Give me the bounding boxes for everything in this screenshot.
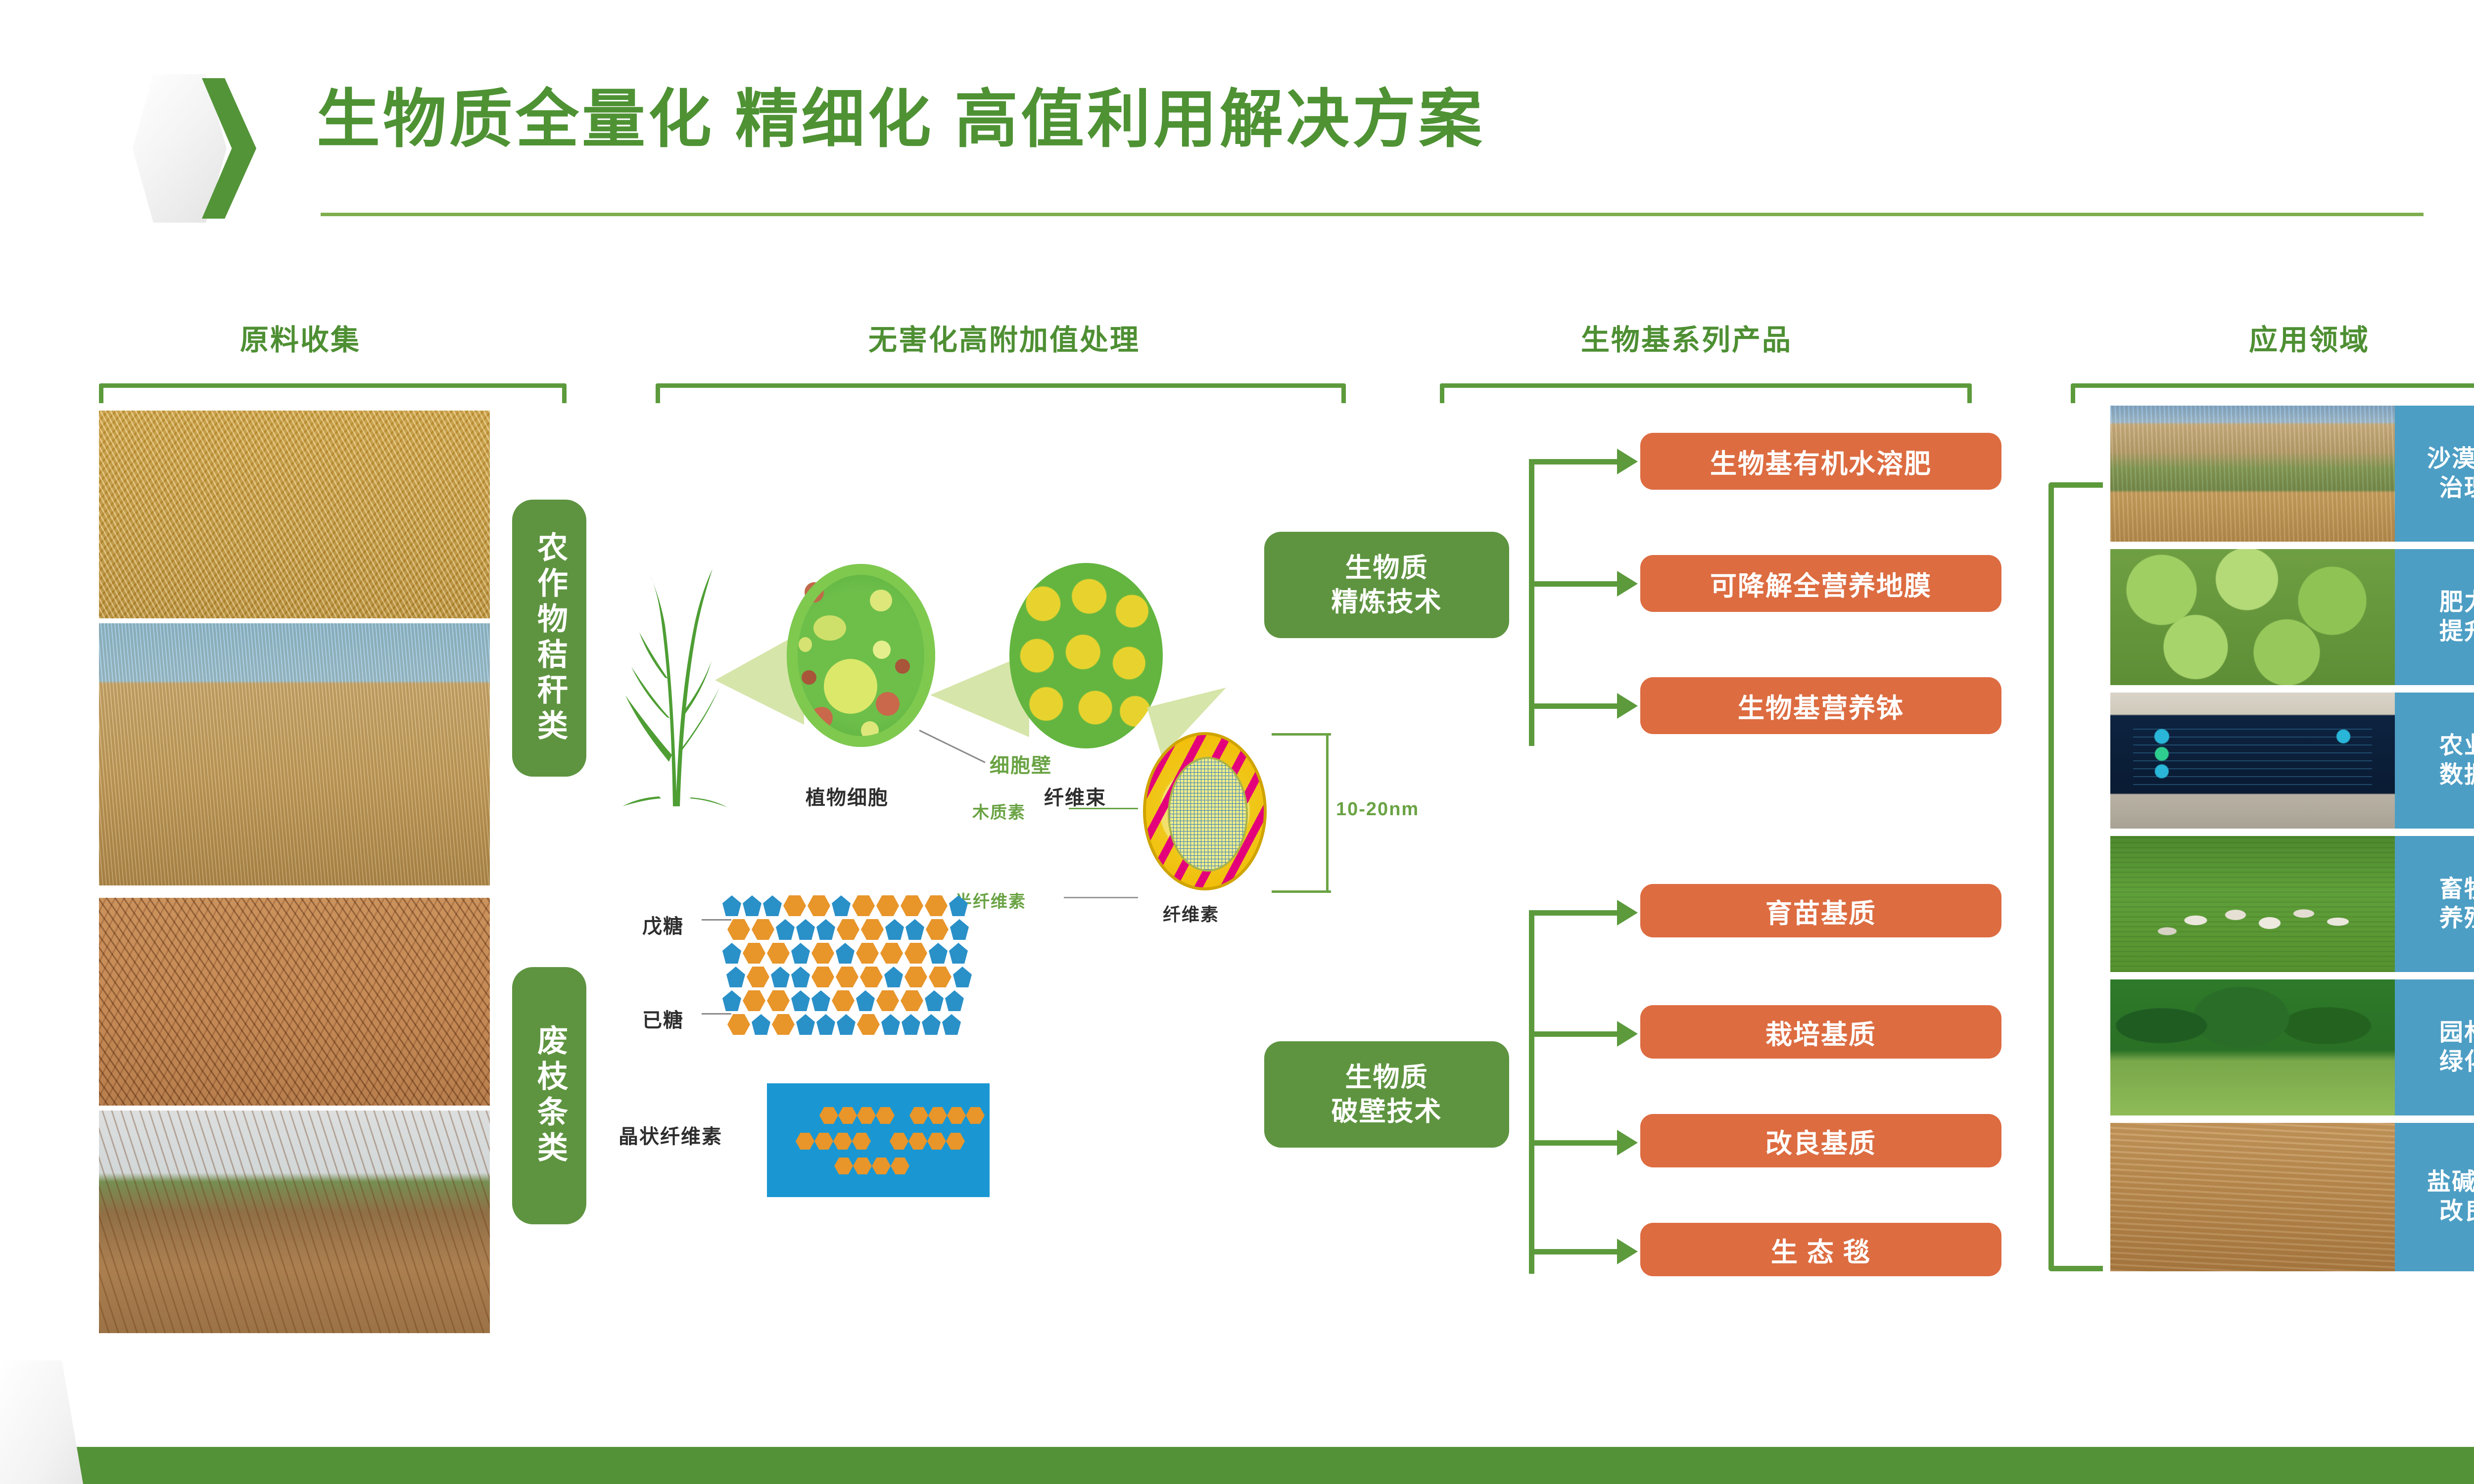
- connector-wallbreak-spine: [1529, 910, 1534, 1274]
- column-header-applications: 应用领域: [2249, 317, 2370, 358]
- app-2-line2: 数据: [2439, 762, 2474, 788]
- photo-cabbage-field: [2110, 549, 2395, 685]
- app-3-line1: 畜牧: [2439, 876, 2474, 902]
- title-underline-rule: [321, 213, 2424, 216]
- photo-orchard-branches: [99, 1111, 490, 1333]
- leader-line-lignin: [1069, 808, 1138, 809]
- hexagon-logo-badge: [133, 74, 251, 223]
- plant-cell-illustration: [787, 564, 935, 747]
- tech-wallbreak-line1: 生物质: [1345, 1063, 1428, 1092]
- connector-wallbreak-4: [1529, 1249, 1618, 1254]
- app-label-fertility-improvement[interactable]: 肥力 提升: [2395, 549, 2474, 685]
- label-hexose: 已糖: [642, 1004, 684, 1033]
- bracket-products: [1440, 383, 1972, 403]
- product-box-ecological-blanket[interactable]: 生 态 毯: [1640, 1223, 2001, 1276]
- bracket-processing: [656, 383, 1346, 403]
- dimension-tick-top: [1272, 733, 1331, 736]
- bracket-raw-material: [99, 383, 567, 403]
- app-4-line1: 园林: [2439, 1020, 2474, 1046]
- sugar-chain-diagram: [722, 895, 1098, 1059]
- crystalline-cellulose-panel: [767, 1083, 990, 1197]
- label-plant-cell: 植物细胞: [806, 782, 889, 810]
- app-0-line1: 沙漠化: [2427, 446, 2474, 472]
- connector-refining-3: [1529, 703, 1618, 709]
- app-label-saline-land-improvement[interactable]: 盐碱地 改良: [2395, 1123, 2474, 1271]
- arrow-refining-1: [1617, 449, 1638, 474]
- app-5-line2: 改良: [2439, 1198, 2474, 1224]
- photo-desert-restoration: [2110, 406, 2395, 542]
- label-cellulose: 纤维素: [1163, 900, 1219, 926]
- app-5-line1: 盐碱地: [2427, 1169, 2474, 1195]
- photo-straw-bale-field: [99, 623, 490, 885]
- photo-dry-branches: [99, 898, 490, 1106]
- app-label-agriculture-data[interactable]: 农业 数据: [2395, 693, 2474, 829]
- photo-data-control-room: [2110, 693, 2395, 829]
- label-fiber-bundle: 纤维束: [1044, 782, 1106, 810]
- tech-refining-line2: 精炼技术: [1332, 587, 1442, 617]
- dimension-line-vertical: [1326, 733, 1329, 892]
- connector-refining-1: [1529, 459, 1618, 464]
- arrow-wallbreak-2: [1617, 1021, 1638, 1047]
- connector-wallbreak-3: [1529, 1140, 1618, 1146]
- photo-saline-land: [2110, 1123, 2395, 1271]
- app-0-line2: 治理: [2439, 475, 2474, 501]
- app-2-line1: 农业: [2439, 733, 2474, 759]
- photo-corn-straw: [99, 411, 490, 618]
- arrow-refining-3: [1617, 693, 1638, 719]
- app-label-desertification-control[interactable]: 沙漠化 治理: [2395, 406, 2474, 542]
- tech-box-wall-breaking[interactable]: 生物质 破壁技术: [1264, 1041, 1509, 1148]
- category-pill-waste-branches[interactable]: 废枝条类: [512, 967, 586, 1224]
- app-label-livestock-breeding[interactable]: 畜牧 养殖: [2395, 836, 2474, 972]
- product-box-seedling-substrate[interactable]: 育苗基质: [1640, 884, 2001, 937]
- arrow-wallbreak-1: [1617, 900, 1638, 926]
- app-3-line2: 养殖: [2439, 905, 2474, 931]
- connector-wallbreak-2: [1529, 1031, 1618, 1037]
- bottom-green-bar: [0, 1447, 2474, 1484]
- app-4-line2: 绿化: [2439, 1049, 2474, 1075]
- page-title: 生物质全量化 精细化 高值利用解决方案: [317, 88, 1485, 151]
- fiber-bundle-illustration: [1009, 563, 1163, 748]
- title-band: 生物质全量化 精细化 高值利用解决方案: [0, 0, 2474, 247]
- tech-refining-line1: 生物质: [1345, 553, 1428, 583]
- label-pentose: 戊糖: [642, 910, 684, 939]
- arrow-wallbreak-4: [1617, 1239, 1638, 1264]
- app-1-line1: 肥力: [2439, 589, 2474, 615]
- cellulose-core: [1168, 757, 1248, 872]
- product-box-biodegradable-film[interactable]: 可降解全营养地膜: [1640, 555, 2001, 612]
- tech-box-refining[interactable]: 生物质 精炼技术: [1264, 532, 1509, 638]
- app-1-line2: 提升: [2439, 618, 2474, 645]
- app-label-garden-greening[interactable]: 园林 绿化: [2395, 979, 2474, 1115]
- label-crystalline-cellulose: 晶状纤维素: [618, 1120, 722, 1149]
- fiber-cross-section-illustration: [1143, 732, 1267, 890]
- column-header-products: 生物基系列产品: [1581, 317, 1792, 358]
- bracket-applications-connector: [2048, 482, 2103, 1271]
- product-box-cultivation-substrate[interactable]: 栽培基质: [1640, 1005, 2001, 1059]
- bracket-applications: [2071, 383, 2474, 403]
- label-fiber-dimension: 10-20nm: [1336, 799, 1419, 820]
- arrow-wallbreak-3: [1617, 1130, 1638, 1156]
- photo-sheep-grazing: [2110, 836, 2395, 972]
- leader-line-hexose: [702, 1013, 731, 1015]
- dimension-tick-bottom: [1272, 890, 1331, 893]
- photo-garden-landscape: [2110, 979, 2395, 1115]
- leader-line-pentose: [702, 919, 731, 921]
- tech-wallbreak-line2: 破壁技术: [1332, 1097, 1442, 1126]
- label-cell-wall: 细胞壁: [990, 749, 1052, 778]
- connector-refining-spine: [1529, 459, 1534, 746]
- product-box-water-soluble-fertilizer[interactable]: 生物基有机水溶肥: [1640, 433, 2001, 490]
- category-pill-crop-straw[interactable]: 农作物秸秆类: [512, 500, 586, 777]
- arrow-refining-2: [1617, 571, 1638, 597]
- connector-wallbreak-1: [1529, 910, 1618, 916]
- connector-refining-2: [1529, 581, 1618, 587]
- product-box-nutrient-pot[interactable]: 生物基营养钵: [1640, 677, 2001, 734]
- column-header-processing: 无害化高附加值处理: [868, 317, 1140, 358]
- column-header-raw-material: 原料收集: [240, 317, 361, 358]
- label-lignin: 木质素: [972, 799, 1026, 823]
- product-box-improvement-substrate[interactable]: 改良基质: [1640, 1114, 2001, 1167]
